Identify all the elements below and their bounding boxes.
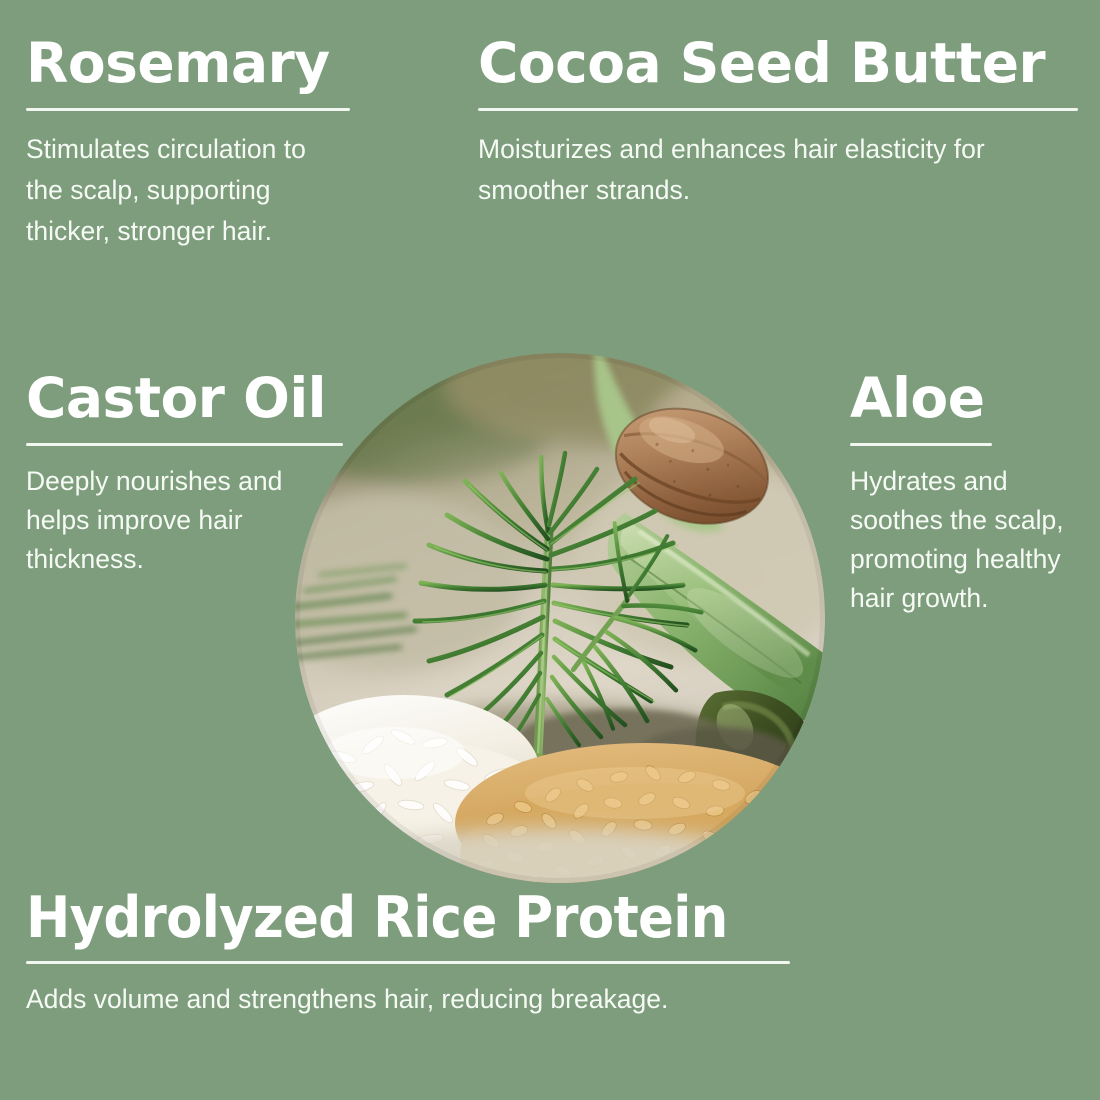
ingredient-title-rosemary: Rosemary	[26, 36, 366, 91]
ingredients-infographic: Rosemary Stimulates circulation to the s…	[0, 0, 1100, 1100]
title-underline	[26, 961, 790, 964]
ingredient-card-cocoa-seed-butter: Cocoa Seed Butter Moisturizes and enhanc…	[478, 36, 1083, 211]
ingredients-photo-illustration	[295, 353, 825, 883]
ingredient-card-aloe: Aloe Hydrates and soothes the scalp, pro…	[850, 371, 1100, 618]
title-underline	[478, 108, 1078, 111]
ingredient-title-cocoa-seed-butter: Cocoa Seed Butter	[478, 36, 1083, 91]
ingredient-card-rosemary: Rosemary Stimulates circulation to the s…	[26, 36, 366, 252]
title-underline	[850, 443, 992, 446]
ingredient-title-hydrolyzed-rice-protein: Hydrolyzed Rice Protein	[26, 890, 770, 947]
ingredient-description-rosemary: Stimulates circulation to the scalp, sup…	[26, 129, 346, 252]
ingredient-title-aloe: Aloe	[850, 371, 1100, 426]
title-underline	[26, 443, 343, 446]
ingredient-description-aloe: Hydrates and soothes the scalp, promotin…	[850, 462, 1098, 618]
title-underline	[26, 108, 350, 111]
ingredient-title-castor-oil: Castor Oil	[26, 371, 366, 426]
ingredient-description-hydrolyzed-rice-protein: Adds volume and strengthens hair, reduci…	[26, 980, 786, 1018]
ingredient-description-castor-oil: Deeply nourishes and helps improve hair …	[26, 462, 286, 579]
ingredient-description-cocoa-seed-butter: Moisturizes and enhances hair elasticity…	[478, 129, 1058, 211]
ingredient-card-hydrolyzed-rice-protein: Hydrolyzed Rice Protein Adds volume and …	[26, 890, 826, 1018]
ingredients-photo	[295, 353, 825, 883]
